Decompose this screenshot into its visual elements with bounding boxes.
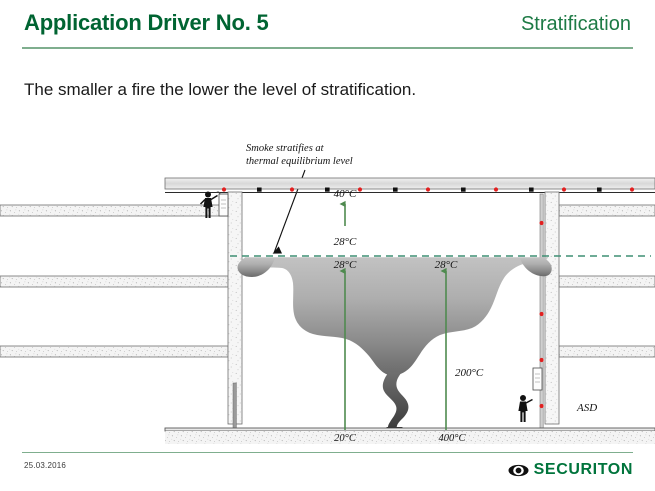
detector-point-red	[562, 187, 566, 191]
temp-label-smoke-value: 400°C	[439, 433, 467, 444]
detector-point-black	[257, 188, 262, 192]
temp-label-plume: 200°C	[455, 367, 484, 379]
temp-label-ceiling: 40°C	[334, 188, 357, 200]
right-floor-slab-3	[559, 346, 655, 357]
detector-point-red	[426, 187, 430, 191]
header-divider	[22, 47, 633, 49]
asd-sample-hole	[540, 404, 544, 408]
lead-paragraph: The smaller a fire the lower the level o…	[24, 80, 416, 100]
detector-point-red	[290, 187, 294, 191]
temp-label-room-value: 20°C	[334, 433, 357, 444]
detector-point-black	[597, 188, 602, 192]
right-floor-slab-1	[559, 205, 655, 216]
detector-point-black	[393, 188, 398, 192]
asd-pipe-body	[540, 194, 543, 428]
asd-panel	[533, 368, 542, 390]
left-floor-slab-1	[0, 205, 228, 216]
temp-label-layer-left: 28°C	[334, 259, 357, 271]
smoke-layer-left-lobe	[237, 258, 275, 278]
asd-sampling-pipe	[540, 194, 544, 428]
footer-date: 25.03.2016	[24, 461, 66, 470]
detector-point-black	[461, 188, 466, 192]
smoke-layer-right-lobe	[520, 258, 552, 277]
page-subtitle: Stratification	[521, 13, 631, 36]
floor-line	[165, 428, 655, 431]
detector-point-red	[630, 187, 634, 191]
temp-label-layer-right: 28°C	[435, 259, 458, 271]
securiton-logo: SECURITON	[508, 462, 633, 478]
page-title: Application Driver No. 5	[24, 10, 269, 36]
asd-label: ASD	[576, 402, 597, 414]
annotation-line-2: thermal equilibrium level	[246, 156, 353, 167]
smoke-plume-column	[383, 372, 409, 430]
detector-point-black	[325, 188, 330, 192]
annotation-line-1: Smoke stratifies at	[246, 143, 325, 154]
brand-wordmark: SECURITON	[534, 462, 633, 478]
detector-point-red	[494, 187, 498, 191]
asd-panel-body	[533, 368, 542, 390]
asd-sample-hole	[540, 221, 544, 225]
right-building-structure	[545, 192, 655, 424]
right-wall	[545, 192, 559, 424]
ceiling-slab	[165, 178, 655, 189]
left-floor-slab-2	[0, 276, 228, 287]
stratification-diagram: Smoke stratifies at thermal equilibrium …	[0, 128, 655, 444]
detector-point-red	[358, 187, 362, 191]
smoke-layer-shape	[245, 257, 548, 375]
diagram-svg: Smoke stratifies at thermal equilibrium …	[0, 128, 655, 444]
right-floor-slab-2	[559, 276, 655, 287]
detector-housing-body	[219, 194, 228, 216]
ground-fill	[165, 431, 655, 444]
detector-point-red	[222, 187, 226, 191]
slide-canvas: Application Driver No. 5 Stratification …	[0, 0, 655, 491]
eye-icon	[508, 464, 529, 477]
left-riser-pipe	[233, 383, 236, 428]
left-building-structure	[0, 192, 242, 428]
left-floor-slab-3	[0, 346, 228, 357]
person-figure-lower	[518, 395, 532, 422]
slide-header: Application Driver No. 5 Stratification	[0, 0, 655, 52]
footer-divider	[22, 452, 633, 453]
temp-label-above-layer: 28°C	[334, 236, 357, 248]
left-detector-housing	[219, 194, 228, 216]
asd-sample-hole	[540, 312, 544, 316]
asd-sample-hole	[540, 358, 544, 362]
detector-point-black	[529, 188, 534, 192]
